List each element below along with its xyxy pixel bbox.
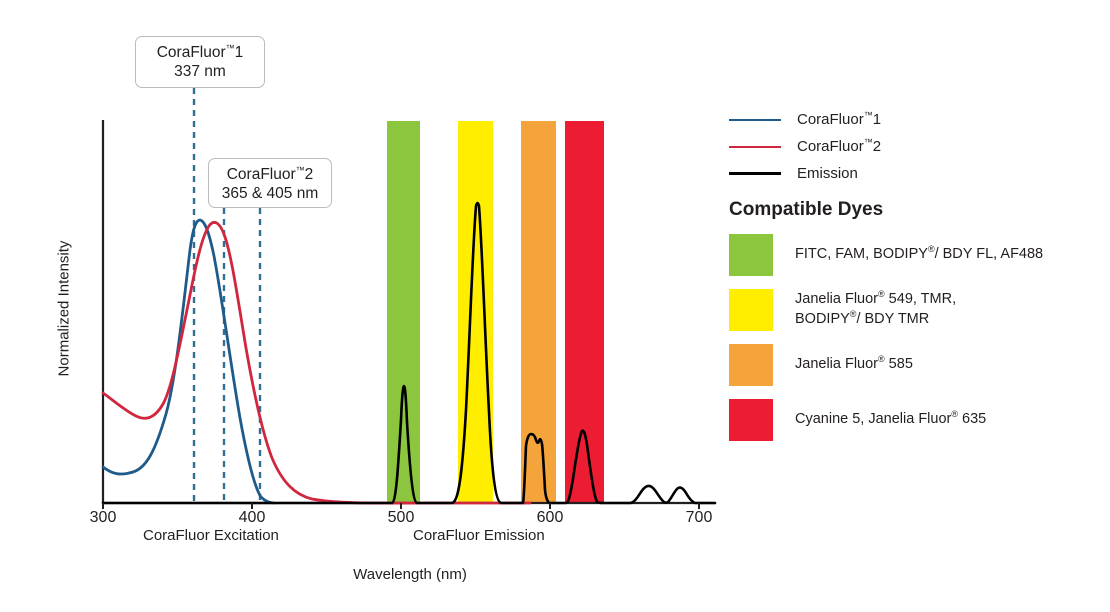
- legend-item-corafluor-2: CoraFluor™2: [729, 133, 1099, 160]
- dye-band-green: [387, 121, 420, 503]
- callout-corafluor-2: CoraFluor™2 365 & 405 nm: [208, 158, 332, 208]
- x-tick-label-300: 300: [73, 509, 133, 527]
- dye-item-red: Cyanine 5, Janelia Fluor® 635: [729, 399, 1109, 441]
- compatible-dyes-list: FITC, FAM, BODIPY®/ BDY FL, AF488 Janeli…: [729, 234, 1109, 454]
- dye-swatch-green: [729, 234, 773, 276]
- x-tick-label-500: 500: [371, 509, 431, 527]
- emission-section-label: CoraFluor Emission: [413, 527, 545, 544]
- legend-label-emission: Emission: [797, 165, 858, 182]
- callout-corafluor-1: CoraFluor™1 337 nm: [135, 36, 265, 88]
- registered-symbol: ®: [878, 290, 885, 300]
- legend-line-corafluor-1: [729, 119, 781, 121]
- dye-label-orange: Janelia Fluor® 585: [795, 355, 913, 375]
- y-axis-title: Normalized Intensity: [56, 219, 73, 399]
- legend-line-corafluor-2: [729, 146, 781, 148]
- dye-item-yellow: Janelia Fluor® 549, TMR, BODIPY®/ BDY TM…: [729, 289, 1109, 331]
- trademark-symbol: ™: [296, 165, 305, 175]
- legend-label-corafluor-2: CoraFluor™2: [797, 138, 881, 155]
- callout-1-value: 337 nm: [136, 62, 264, 81]
- callout-1-title: CoraFluor™1: [136, 43, 264, 62]
- series-legend: CoraFluor™1 CoraFluor™2 Emission: [729, 106, 1099, 187]
- dye-label-red: Cyanine 5, Janelia Fluor® 635: [795, 410, 986, 430]
- trademark-symbol: ™: [226, 43, 235, 53]
- dye-swatch-orange: [729, 344, 773, 386]
- legend-label-corafluor-1: CoraFluor™1: [797, 111, 881, 128]
- registered-symbol: ®: [878, 354, 885, 364]
- dye-label-green: FITC, FAM, BODIPY®/ BDY FL, AF488: [795, 245, 1043, 265]
- dye-band-red: [565, 121, 604, 503]
- x-tick-label-400: 400: [222, 509, 282, 527]
- dye-item-green: FITC, FAM, BODIPY®/ BDY FL, AF488: [729, 234, 1109, 276]
- x-tick-label-700: 700: [669, 509, 729, 527]
- dye-swatch-red: [729, 399, 773, 441]
- excitation-marker-lines: [194, 88, 260, 503]
- dye-swatch-yellow: [729, 289, 773, 331]
- legend-item-emission: Emission: [729, 160, 1099, 187]
- legend-line-emission: [729, 172, 781, 175]
- dye-bands: [387, 121, 604, 503]
- x-axis-title: Wavelength (nm): [260, 566, 560, 583]
- trademark-symbol: ™: [864, 137, 873, 147]
- dye-label-yellow-line2: BODIPY®/ BDY TMR: [795, 310, 956, 330]
- registered-symbol: ®: [928, 244, 935, 254]
- callout-2-title: CoraFluor™2: [209, 165, 331, 184]
- dye-label-yellow: Janelia Fluor® 549, TMR, BODIPY®/ BDY TM…: [795, 290, 956, 329]
- legend-item-corafluor-1: CoraFluor™1: [729, 106, 1099, 133]
- excitation-section-label: CoraFluor Excitation: [143, 527, 279, 544]
- compatible-dyes-title: Compatible Dyes: [729, 199, 883, 221]
- x-tick-label-600: 600: [520, 509, 580, 527]
- trademark-symbol: ™: [864, 110, 873, 120]
- callout-2-value: 365 & 405 nm: [209, 184, 331, 203]
- dye-item-orange: Janelia Fluor® 585: [729, 344, 1109, 386]
